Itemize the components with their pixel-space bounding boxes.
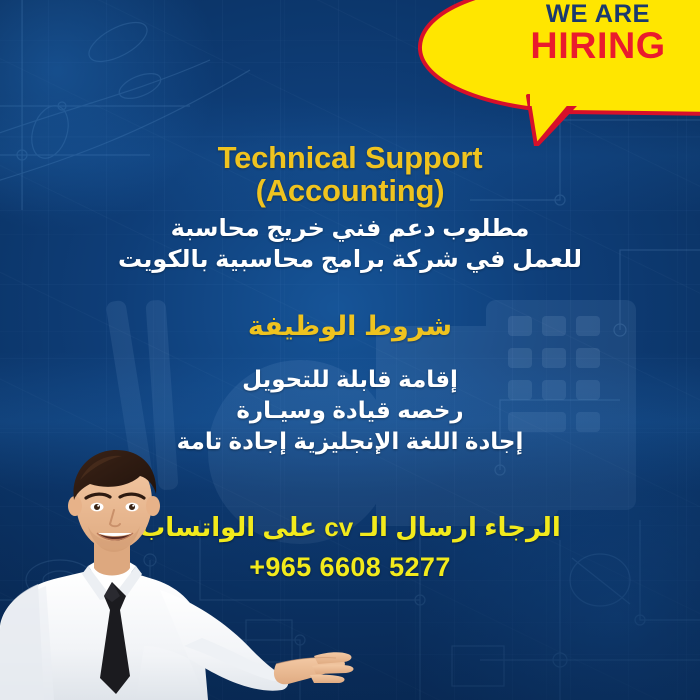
job-description-line-2: للعمل في شركة برامج محاسبية بالكويت <box>0 244 700 275</box>
hiring-poster: WE ARE HIRING Technical Support (Account… <box>0 0 700 700</box>
job-title-line-2: (Accounting) <box>0 174 700 207</box>
job-title-line-1: Technical Support <box>0 141 700 174</box>
job-title: Technical Support (Accounting) <box>0 141 700 208</box>
requirement-item-1: إقامة قابلة للتحويل <box>0 364 700 395</box>
businessman-illustration <box>0 450 364 700</box>
requirements-heading: شروط الوظيفة <box>0 311 700 342</box>
requirements-list: إقامة قابلة للتحويل رخصه قيادة وسيـارة إ… <box>0 364 700 457</box>
job-description: مطلوب دعم فني خريج محاسبة للعمل في شركة … <box>0 213 700 275</box>
job-description-line-1: مطلوب دعم فني خريج محاسبة <box>0 213 700 244</box>
requirement-item-2: رخصه قيادة وسيـارة <box>0 395 700 426</box>
